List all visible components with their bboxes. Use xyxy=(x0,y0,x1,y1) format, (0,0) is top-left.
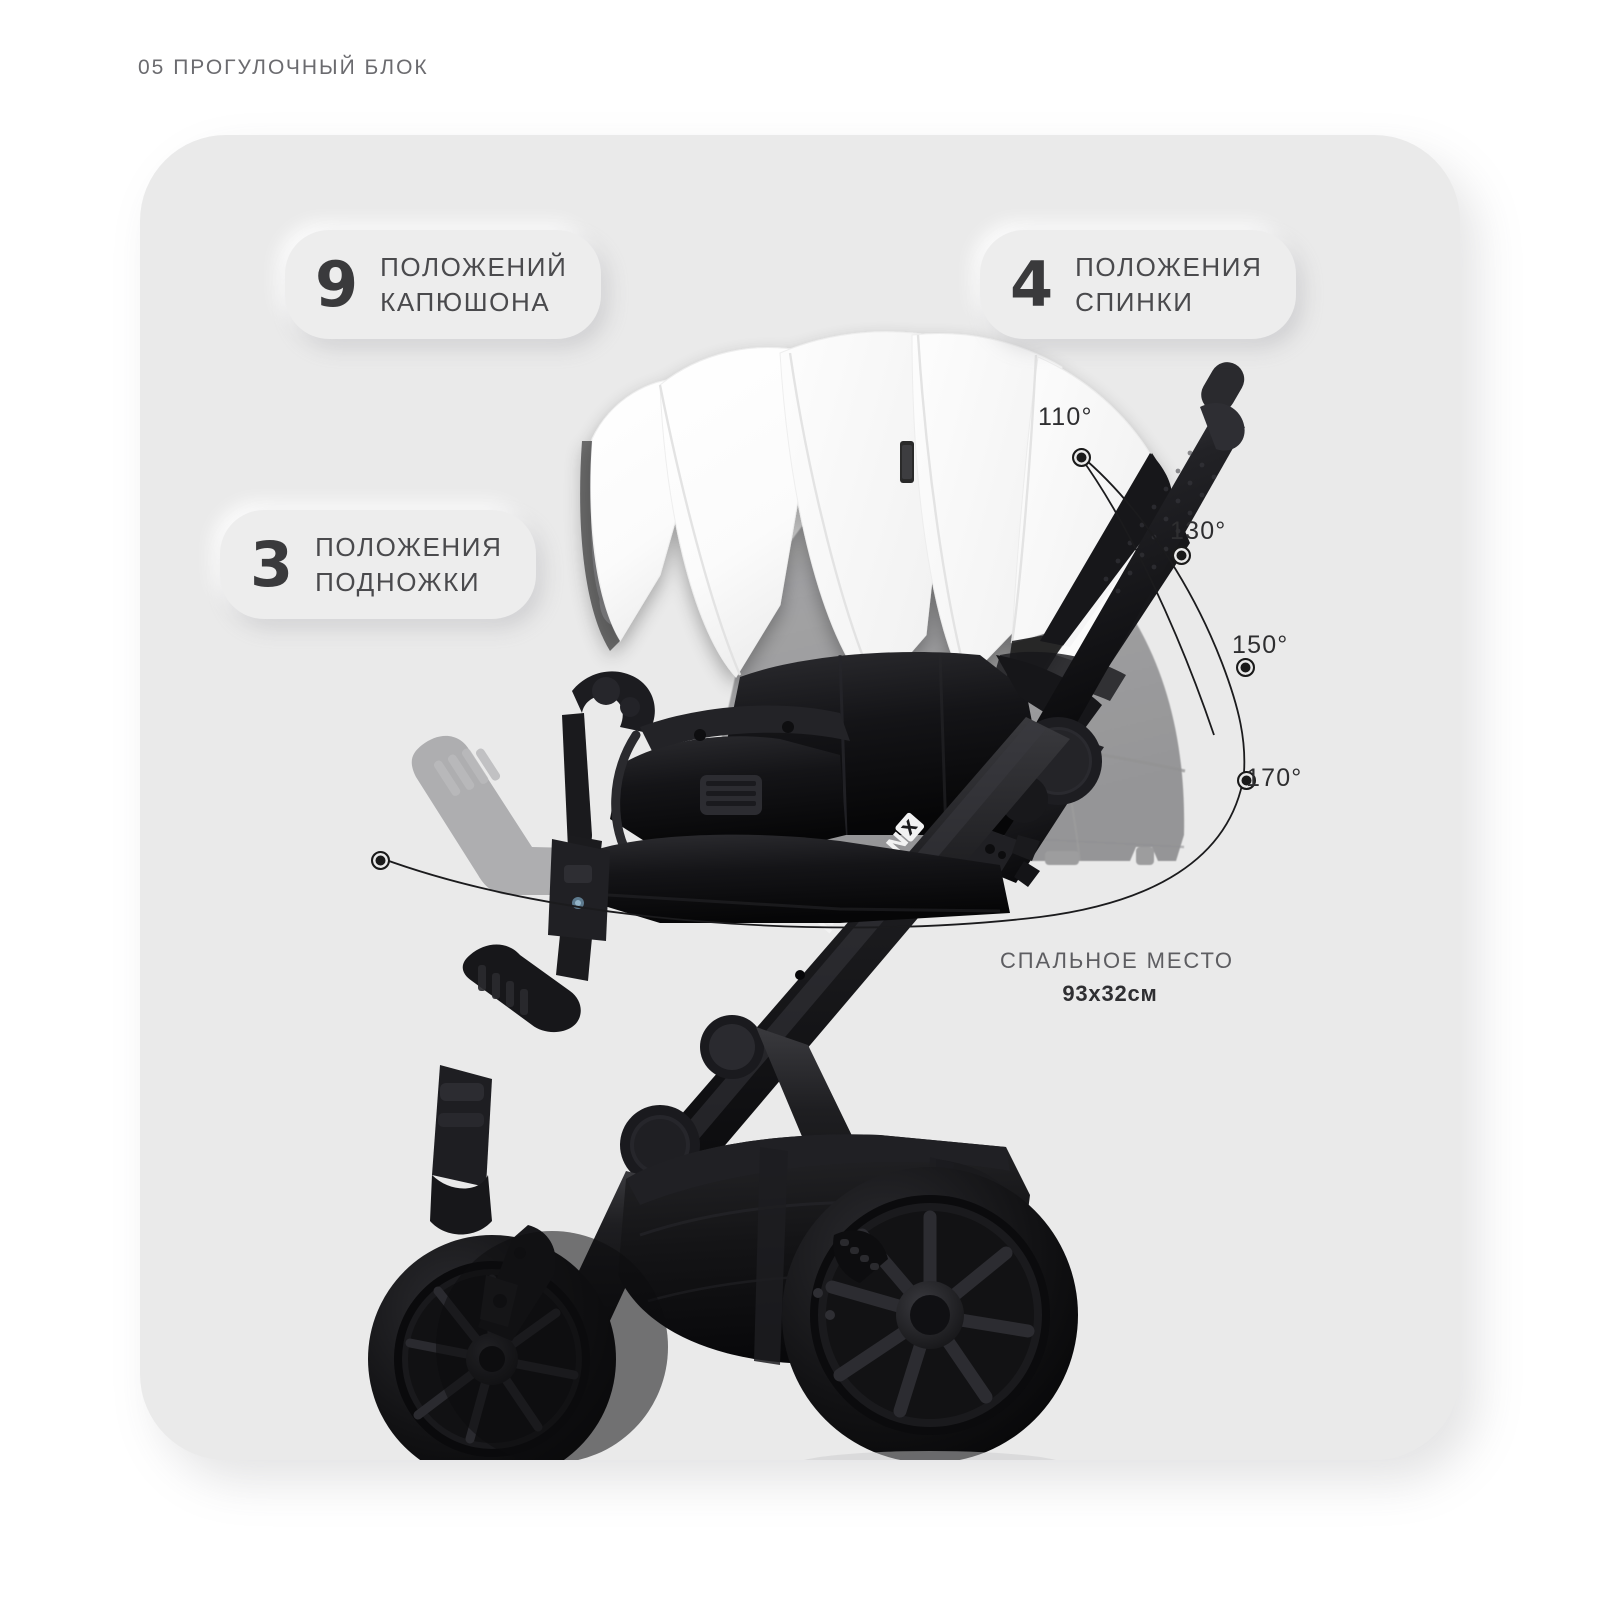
infographic-page: 05 ПРОГУЛОЧНЫЙ БЛОК xyxy=(0,0,1600,1600)
angle-dot-130 xyxy=(1172,546,1191,565)
badge-footrest-line1: ПОЛОЖЕНИЯ xyxy=(315,530,502,565)
bed-size-annotation: СПАЛЬНОЕ МЕСТО 93х32см xyxy=(1000,948,1220,1007)
front-wheel xyxy=(368,1225,668,1460)
badge-hood-line1: ПОЛОЖЕНИЙ xyxy=(380,250,567,285)
badge-backrest-line2: СПИНКИ xyxy=(1075,285,1262,320)
angle-label-130: 130° xyxy=(1170,517,1227,546)
badge-hood-text: ПОЛОЖЕНИЙ КАПЮШОНА xyxy=(380,250,567,319)
front-suspension xyxy=(430,1065,492,1235)
bed-size-title: СПАЛЬНОЕ МЕСТО xyxy=(1000,948,1220,974)
page-title: 05 ПРОГУЛОЧНЫЙ БЛОК xyxy=(138,56,429,80)
badge-footrest-line2: ПОДНОЖКИ xyxy=(315,565,502,600)
angle-dot-110 xyxy=(1072,448,1091,467)
badge-backrest-line1: ПОЛОЖЕНИЯ xyxy=(1075,250,1262,285)
badge-footrest-positions: 3 ПОЛОЖЕНИЯ ПОДНОЖКИ xyxy=(220,510,536,619)
footrest-arc-dot xyxy=(371,851,390,870)
badge-footrest-text: ПОЛОЖЕНИЯ ПОДНОЖКИ xyxy=(315,530,502,599)
badge-hood-positions: 9 ПОЛОЖЕНИЙ КАПЮШОНА xyxy=(285,230,601,339)
badge-hood-number: 9 xyxy=(315,257,358,313)
rear-wheel xyxy=(782,1167,1078,1460)
badge-backrest-number: 4 xyxy=(1010,257,1053,313)
badge-footrest-number: 3 xyxy=(250,537,293,593)
badge-hood-line2: КАПЮШОНА xyxy=(380,285,567,320)
angle-label-110: 110° xyxy=(1038,403,1093,432)
angle-label-150: 150° xyxy=(1232,631,1289,660)
angle-dot-150 xyxy=(1236,658,1255,677)
badge-backrest-positions: 4 ПОЛОЖЕНИЯ СПИНКИ xyxy=(980,230,1296,339)
bed-size-dimensions: 93х32см xyxy=(1000,981,1220,1007)
badge-backrest-text: ПОЛОЖЕНИЯ СПИНКИ xyxy=(1075,250,1262,319)
angle-label-170: 170° xyxy=(1246,764,1303,793)
